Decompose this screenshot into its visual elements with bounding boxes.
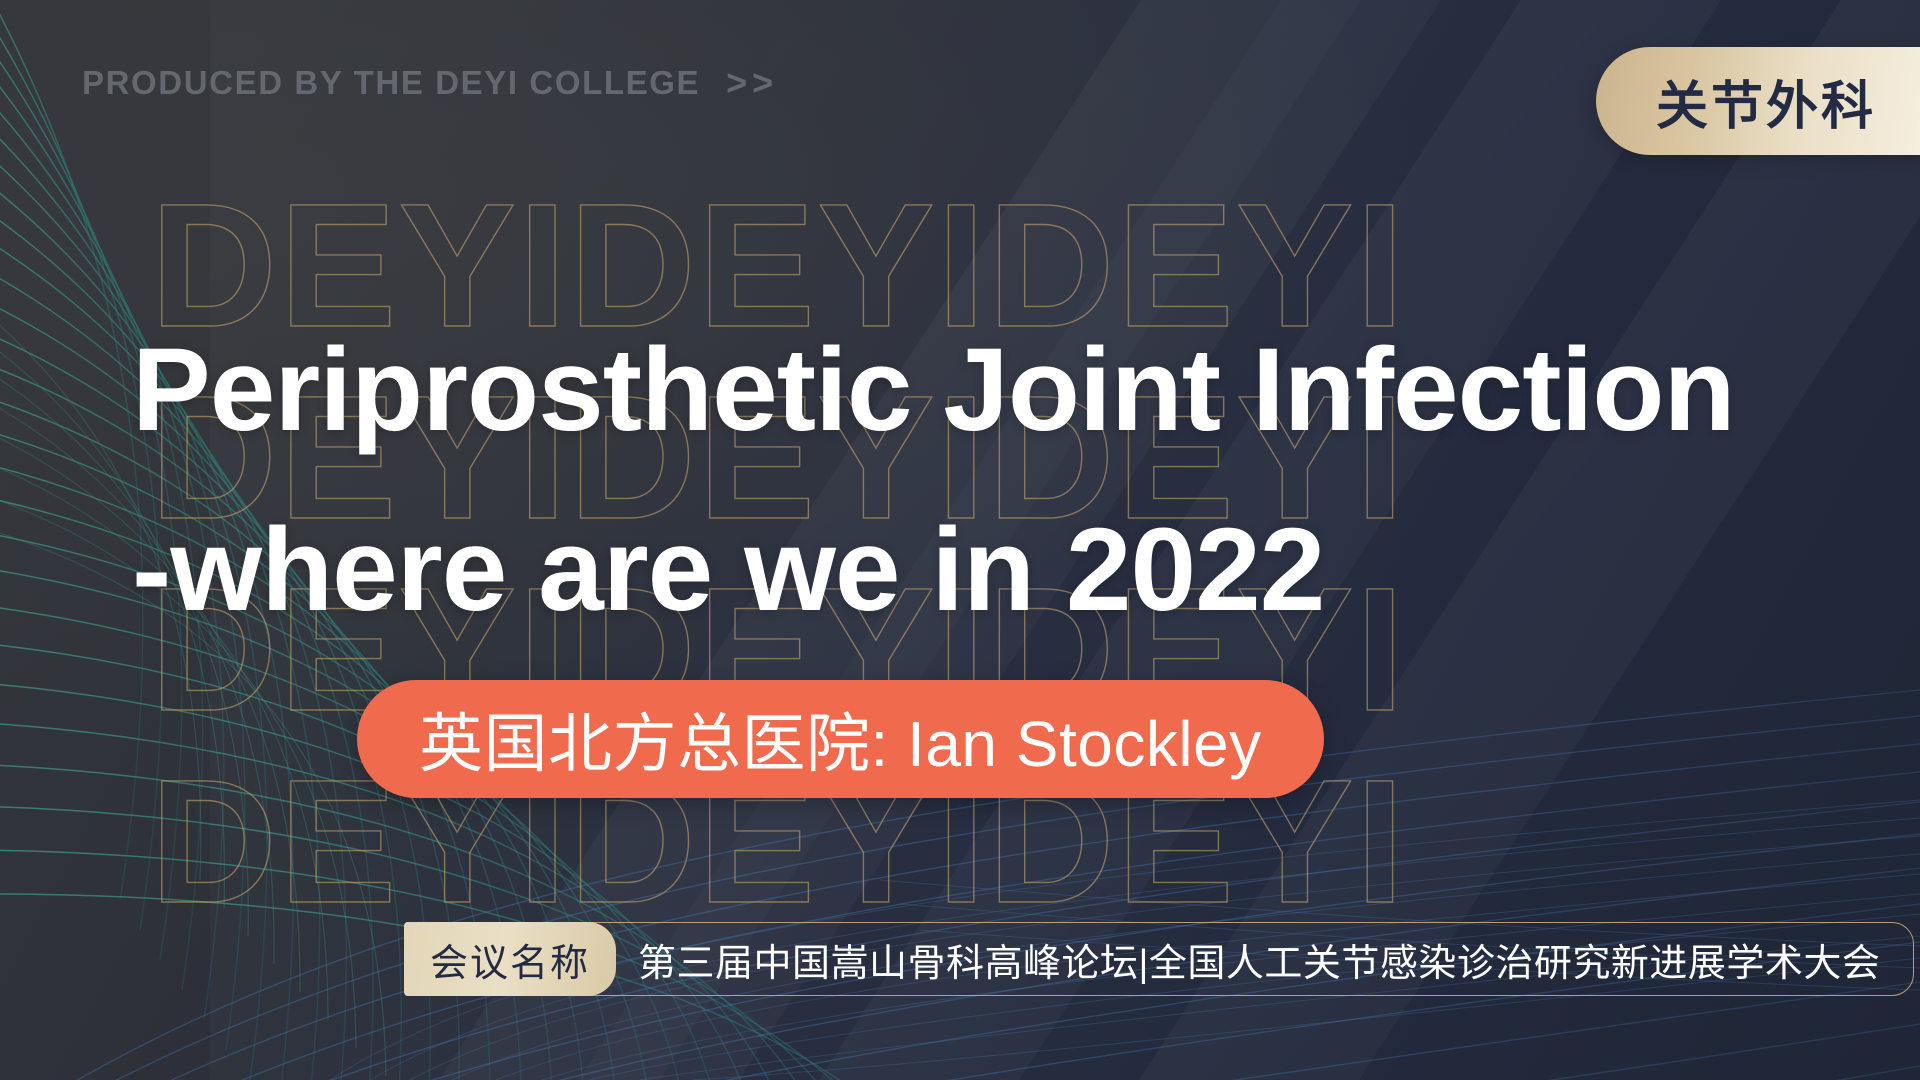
title-slide: DEYIDEYIDEYI DEYIDEYIDEYI DEYIDEYIDEYI D… bbox=[0, 0, 1920, 1080]
speaker-label: 英国北方总医院: Ian Stockley bbox=[419, 693, 1262, 785]
conference-bar: 会议名称 第三届中国嵩山骨科高峰论坛|全国人工关节感染诊治研究新进展学术大会 bbox=[404, 922, 1914, 996]
speaker-pill: 英国北方总医院: Ian Stockley bbox=[357, 680, 1324, 798]
producer-kicker: PRODUCED BY THE DEYI COLLEGE >> bbox=[82, 62, 778, 104]
conference-name-text: 第三届中国嵩山骨科高峰论坛|全国人工关节感染诊治研究新进展学术大会 bbox=[638, 932, 1880, 987]
chevron-right-double-icon: >> bbox=[726, 62, 778, 104]
title-line-2: -where are we in 2022 bbox=[132, 480, 1792, 660]
conference-label-text: 会议名称 bbox=[430, 932, 590, 987]
department-badge-label: 关节外科 bbox=[1656, 64, 1876, 139]
department-badge: 关节外科 bbox=[1596, 47, 1920, 155]
title-line-1: Periprosthetic Joint Infection bbox=[132, 300, 1792, 480]
conference-label-chip: 会议名称 bbox=[404, 922, 616, 996]
conference-name-wrap: 第三届中国嵩山骨科高峰论坛|全国人工关节感染诊治研究新进展学术大会 bbox=[616, 922, 1914, 996]
producer-label: PRODUCED BY THE DEYI COLLEGE bbox=[82, 64, 700, 102]
page-title: Periprosthetic Joint Infection -where ar… bbox=[132, 300, 1792, 660]
